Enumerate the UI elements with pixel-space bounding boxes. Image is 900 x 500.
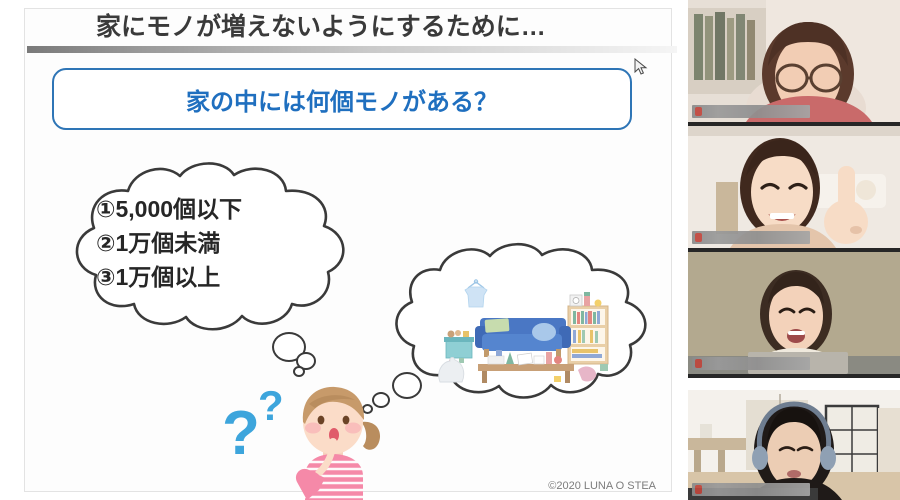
video-tile-participant-4[interactable] — [688, 378, 900, 500]
participant-3-mic-icon — [695, 359, 702, 368]
bookshelf-icon — [568, 292, 608, 364]
hanging-shirt-icon — [465, 280, 487, 307]
living-room-illustration — [432, 278, 622, 383]
video-tile-participant-2[interactable] — [688, 126, 900, 248]
option-3: ③1万個以上 — [96, 260, 336, 294]
participant-2-video — [688, 126, 900, 248]
copyright-text: ©2020 LUNA O STEA — [548, 480, 656, 492]
video-participants-panel — [688, 0, 900, 500]
question-box-text: 家の中には何個モノがある？ — [54, 70, 630, 128]
participant-3-name-bar — [692, 357, 810, 370]
question-box: 家の中には何個モノがある？ — [52, 68, 632, 130]
slide-area: 家にモノが増えないようにするために… 家の中には何個モノがある？ ①5,000個… — [0, 0, 688, 500]
presentation-screen: 家にモノが増えないようにするために… 家の中には何個モノがある？ ①5,000個… — [0, 0, 900, 500]
option-2: ②1万個未満 — [96, 226, 336, 260]
participant-1-mic-icon — [695, 107, 702, 116]
participant-2-name-bar — [692, 231, 810, 244]
slide-title: 家にモノが増えないようにするために… — [96, 11, 596, 43]
sofa-icon — [475, 318, 571, 357]
participant-4-video — [688, 378, 900, 500]
video-tile-participant-1[interactable] — [688, 0, 900, 122]
option-1: ①5,000個以下 — [96, 192, 336, 226]
toy-box-icon — [444, 330, 474, 364]
options-list: ①5,000個以下 ②1万個未満 ③1万個以上 — [96, 192, 336, 294]
participant-3-video — [688, 252, 900, 374]
participant-1-name-bar — [692, 105, 810, 118]
bubble-tail-right-1 — [392, 372, 422, 399]
bubble-tail-left-3 — [293, 366, 305, 377]
thinking-girl-illustration — [275, 378, 395, 500]
participant-4-name-bar — [692, 483, 810, 496]
video-tile-participant-3[interactable] — [688, 252, 900, 374]
participant-2-mic-icon — [695, 233, 702, 242]
title-divider — [27, 46, 677, 53]
question-mark-large: ? — [222, 398, 260, 469]
participant-1-video — [688, 0, 900, 122]
participant-4-mic-icon — [695, 485, 702, 494]
mouse-pointer-icon — [634, 58, 648, 76]
